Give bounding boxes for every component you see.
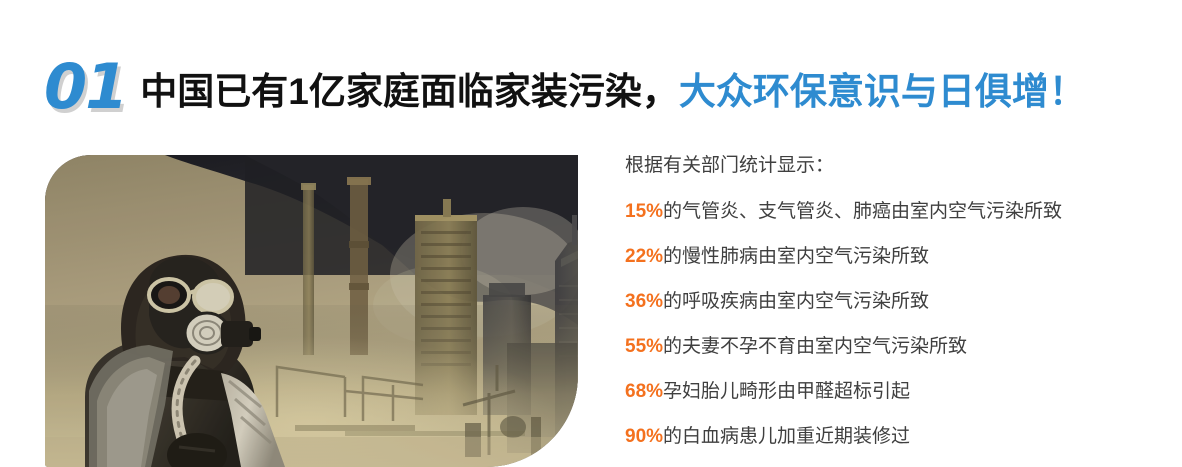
stat-row: 36%的呼吸疾病由室内空气污染所致 — [625, 292, 1165, 311]
headline-number: 01 — [44, 56, 126, 118]
headline-text-blue: 大众环保意识与日俱增！ — [679, 71, 1086, 112]
stat-percent: 15% — [625, 201, 663, 222]
stat-description: 的夫妻不孕不育由室内空气污染所致 — [663, 336, 967, 357]
stat-row: 15%的气管炎、支气管炎、肺癌由室内空气污染所致 — [625, 202, 1165, 221]
stat-description: 的呼吸疾病由室内空气污染所致 — [663, 291, 929, 312]
stat-percent: 55% — [625, 336, 663, 357]
statistics-panel: 根据有关部门统计显示： 15%的气管炎、支气管炎、肺癌由室内空气污染所致 22%… — [625, 156, 1165, 446]
stat-row: 90%的白血病患儿加重近期装修过 — [625, 427, 1165, 446]
stat-description: 的白血病患儿加重近期装修过 — [663, 426, 910, 447]
stats-intro: 根据有关部门统计显示： — [625, 156, 1165, 175]
headline-text-dark: 中国已有1亿家庭面临家装污染， — [140, 71, 679, 112]
headline: 01 中国已有1亿家庭面临家装污染，大众环保意识与日俱增！ — [44, 52, 1086, 114]
stat-row: 22%的慢性肺病由室内空气污染所致 — [625, 247, 1165, 266]
stat-percent: 22% — [625, 246, 663, 267]
stat-description: 的慢性肺病由室内空气污染所致 — [663, 246, 929, 267]
promo-banner: 01 中国已有1亿家庭面临家装污染，大众环保意识与日俱增！ — [0, 0, 1182, 467]
stat-row: 55%的夫妻不孕不育由室内空气污染所致 — [625, 337, 1165, 356]
stat-percent: 68% — [625, 381, 663, 402]
stat-percent: 90% — [625, 426, 663, 447]
stat-percent: 36% — [625, 291, 663, 312]
headline-text: 中国已有1亿家庭面临家装污染，大众环保意识与日俱增！ — [140, 73, 1086, 110]
stat-row: 68%孕妇胎儿畸形由甲醛超标引起 — [625, 382, 1165, 401]
pollution-photo-artwork — [45, 155, 578, 467]
pollution-photo — [45, 155, 578, 467]
stat-description: 的气管炎、支气管炎、肺癌由室内空气污染所致 — [663, 201, 1062, 222]
stat-description: 孕妇胎儿畸形由甲醛超标引起 — [663, 381, 910, 402]
